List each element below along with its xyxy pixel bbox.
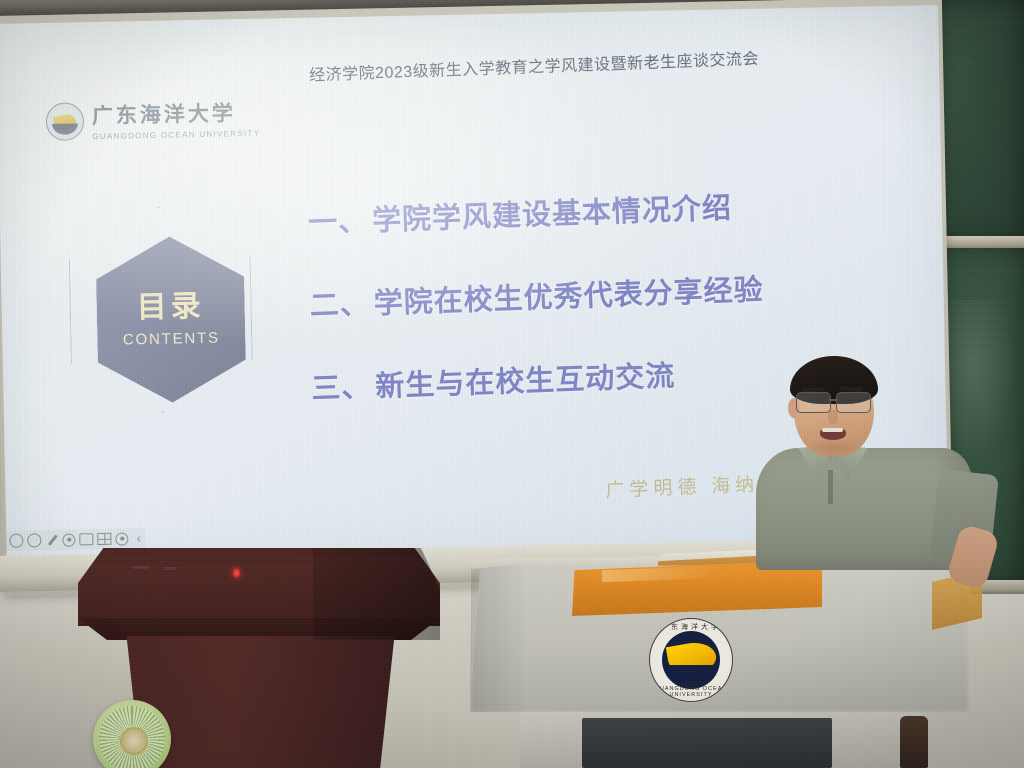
more-options-icon[interactable]: [115, 531, 128, 545]
speaker-glasses: [792, 392, 876, 412]
agenda-item-3-text: 新生与在校生互动交流: [375, 360, 676, 403]
speaker-person: [748, 352, 988, 568]
speaker-teeth: [822, 428, 843, 432]
university-logo-en: GUANGDONG OCEAN UNIVERSITY: [92, 129, 260, 141]
lectern-scuff-1: [133, 566, 149, 569]
agenda-item-1-number: 一、: [308, 205, 369, 239]
agenda-item-3-number: 三、: [311, 371, 372, 405]
agenda-list: 一、学院学风建设基本情况介绍 二、学院在校生优秀代表分享经验 三、新生与在校生互…: [308, 186, 793, 445]
university-logo-cn: 广东海洋大学: [92, 97, 261, 130]
lectern-indicator-light: [233, 568, 240, 578]
all-slides-icon[interactable]: [97, 532, 111, 546]
agenda-item-2-text: 学院在校生优秀代表分享经验: [373, 274, 764, 320]
laser-pointer-icon[interactable]: [62, 533, 75, 547]
emblem-text-en: GUANGDONG OCEAN UNIVERSITY: [650, 686, 732, 698]
agenda-item-2: 二、学院在校生优秀代表分享经验: [309, 265, 790, 324]
agenda-item-1: 一、学院学风建设基本情况介绍: [307, 182, 788, 241]
contents-hexagon-cn: 目录: [136, 291, 205, 322]
multimedia-podium: 广东海洋大学 1935 GUANGDONG OCEAN UNIVERSITY: [462, 542, 982, 768]
speaker-shirt-placket: [828, 470, 833, 504]
contents-hexagon-en: CONTENTS: [123, 329, 220, 348]
agenda-item-1-text: 学院学风建设基本情况介绍: [372, 192, 733, 237]
slide-show-icon[interactable]: [79, 532, 93, 546]
pen-icon[interactable]: [45, 533, 58, 547]
university-logo-icon: [46, 102, 85, 141]
portable-desk-fan: [93, 700, 171, 768]
glasses-lens-left: [796, 392, 831, 413]
slide-title: 经济学院2023级新生入学教育之学风建设暨新老生座谈交流会: [309, 45, 760, 86]
podium-front-edge-shadow: [470, 560, 528, 712]
lectern-shadow-side: [313, 548, 440, 640]
agenda-item-2-number: 二、: [309, 288, 370, 322]
next-slide-icon[interactable]: [27, 533, 41, 547]
lectern-scuff-2: [163, 567, 177, 570]
glasses-lens-right: [836, 392, 871, 413]
speaker-chin-shadow: [806, 440, 862, 454]
collapse-icon[interactable]: ‹: [132, 531, 145, 545]
podium-control-display[interactable]: [582, 718, 832, 768]
previous-slide-icon[interactable]: [9, 534, 23, 548]
podium-right-leg: [900, 716, 928, 768]
podium-university-emblem: 广东海洋大学 1935 GUANGDONG OCEAN UNIVERSITY: [649, 618, 733, 702]
university-logo: 广东海洋大学 GUANGDONG OCEAN UNIVERSITY: [46, 97, 261, 142]
speaker-nose: [828, 410, 838, 424]
fan-hub: [120, 727, 148, 755]
lecture-hall-photo: 经济学院2023级新生入学教育之学风建设暨新老生座谈交流会 广东海洋大学 GUA…: [0, 0, 1024, 768]
agenda-item-3: 三、新生与在校生互动交流: [311, 348, 792, 407]
emblem-text-cn: 广东海洋大学: [650, 622, 732, 632]
